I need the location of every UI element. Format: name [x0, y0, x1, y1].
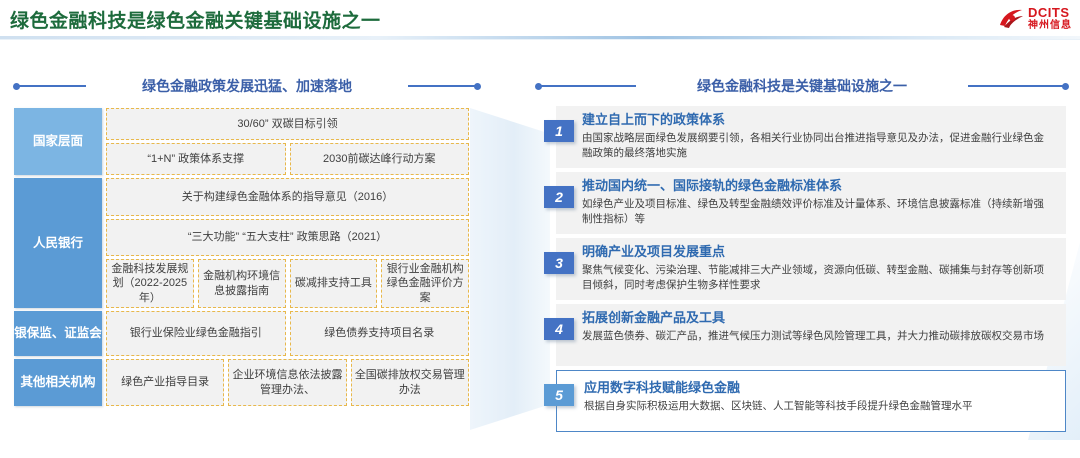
policy-cell[interactable]: 金融科技发展规划（2022-2025年）	[106, 259, 194, 308]
cell-group: “1+N” 政策体系支撑 2030前碳达峰行动方案	[106, 143, 469, 175]
policy-cell[interactable]: 绿色债券支持项目名录	[290, 311, 470, 356]
list-item-highlighted[interactable]: 5 应用数字科技赋能绿色金融 根据自身实际积极运用大数据、区块链、人工智能等科技…	[536, 368, 1066, 434]
key-points-list: 1 建立自上而下的政策体系 由国家战略层面绿色发展纲要引领，各相关行业协同出台推…	[536, 104, 1066, 434]
item-title: 明确产业及项目发展重点	[582, 244, 1052, 261]
policy-cell[interactable]: 银行业保险业绿色金融指引	[106, 311, 286, 356]
cell-group: “三大功能” “五大支柱” 政策思路（2021）	[106, 219, 469, 257]
item-title: 推动国内统一、国际接轨的绿色金融标准体系	[582, 178, 1052, 195]
policy-cell[interactable]: “1+N” 政策体系支撑	[106, 143, 286, 175]
item-description: 根据自身实际积极运用大数据、区块链、人工智能等科技手段提升绿色金融管理水平	[584, 399, 1052, 414]
logo-wordmark: DCITS 神州信息	[1028, 6, 1072, 31]
item-description: 聚焦气候变化、污染治理、节能减排三大产业领域，资源向低碳、转型金融、碳捕集与封存…	[582, 263, 1052, 293]
row-body: 银行业保险业绿色金融指引 绿色债券支持项目名录	[102, 311, 469, 356]
item-text: 拓展创新金融产品及工具 发展蓝色债券、碳汇产品，推进气候压力测试等绿色风险管理工…	[582, 310, 1052, 344]
item-title: 建立自上而下的政策体系	[582, 112, 1052, 129]
list-item[interactable]: 3 明确产业及项目发展重点 聚焦气候变化、污染治理、节能减排三大产业领域，资源向…	[536, 236, 1066, 302]
table-row: 国家层面 30/60” 双碳目标引领 “1+N” 政策体系支撑 2030前碳达峰…	[14, 108, 469, 175]
row-label-cbirc-csrc: 银保监、证监会	[14, 311, 102, 356]
row-body: 关于构建绿色金融体系的指导意见（2016） “三大功能” “五大支柱” 政策思路…	[102, 178, 469, 308]
item-number-badge: 5	[544, 384, 574, 406]
table-row: 其他相关机构 绿色产业指导目录 企业环境信息依法披露管理办法、 全国碳排放权交易…	[14, 359, 469, 406]
row-label-national: 国家层面	[14, 108, 102, 175]
policy-cell[interactable]: 企业环境信息依法披露管理办法、	[228, 359, 346, 406]
cell-group: 30/60” 双碳目标引领	[106, 108, 469, 140]
row-body: 绿色产业指导目录 企业环境信息依法披露管理办法、 全国碳排放权交易管理办法	[102, 359, 469, 406]
row-body: 30/60” 双碳目标引领 “1+N” 政策体系支撑 2030前碳达峰行动方案	[102, 108, 469, 175]
title-bar: 绿色金融科技是绿色金融关键基础设施之一 DCITS 神州信息	[0, 0, 1080, 38]
item-number-badge: 1	[544, 120, 574, 142]
row-label-other-agencies: 其他相关机构	[14, 359, 102, 406]
item-title: 拓展创新金融产品及工具	[582, 310, 1052, 327]
brand-logo: DCITS 神州信息	[998, 3, 1072, 33]
cell-group: 金融科技发展规划（2022-2025年） 金融机构环境信息披露指南 碳减排支持工…	[106, 259, 469, 308]
dcits-swirl-icon	[998, 7, 1024, 29]
table-row: 人民银行 关于构建绿色金融体系的指导意见（2016） “三大功能” “五大支柱”…	[14, 178, 469, 308]
item-text: 明确产业及项目发展重点 聚焦气候变化、污染治理、节能减排三大产业领域，资源向低碳…	[582, 244, 1052, 293]
item-text: 应用数字科技赋能绿色金融 根据自身实际积极运用大数据、区块链、人工智能等科技手段…	[584, 380, 1052, 414]
item-description: 由国家战略层面绿色发展纲要引领，各相关行业协同出台推进指导意见及办法，促进金融行…	[582, 131, 1052, 161]
cell-group: 绿色产业指导目录 企业环境信息依法披露管理办法、 全国碳排放权交易管理办法	[106, 359, 469, 406]
item-description: 发展蓝色债券、碳汇产品，推进气候压力测试等绿色风险管理工具，并大力推动碳排放碳权…	[582, 329, 1052, 344]
left-section-header: 绿色金融政策发展迅猛、加速落地	[14, 76, 480, 96]
policy-cell[interactable]: 金融机构环境信息披露指南	[198, 259, 286, 308]
policy-cell[interactable]: “三大功能” “五大支柱” 政策思路（2021）	[106, 219, 469, 257]
list-item[interactable]: 1 建立自上而下的政策体系 由国家战略层面绿色发展纲要引领，各相关行业协同出台推…	[536, 104, 1066, 170]
list-item[interactable]: 2 推动国内统一、国际接轨的绿色金融标准体系 如绿色产业及项目标准、绿色及转型金…	[536, 170, 1066, 236]
item-number-badge: 2	[544, 186, 574, 208]
item-text: 建立自上而下的政策体系 由国家战略层面绿色发展纲要引领，各相关行业协同出台推进指…	[582, 112, 1052, 161]
right-section-header: 绿色金融科技是关键基础设施之一	[536, 76, 1068, 96]
header-rule-left-2	[536, 85, 636, 87]
right-section-title: 绿色金融科技是关键基础设施之一	[683, 76, 921, 96]
policy-cell[interactable]: 银行业金融机构绿色金融评价方案	[381, 259, 469, 308]
header-rule-right-2	[968, 85, 1068, 87]
policy-cell[interactable]: 碳减排支持工具	[290, 259, 378, 308]
logo-text-en: DCITS	[1028, 6, 1072, 19]
item-text: 推动国内统一、国际接轨的绿色金融标准体系 如绿色产业及项目标准、绿色及转型金融绩…	[582, 178, 1052, 227]
item-number-badge: 3	[544, 252, 574, 274]
logo-text-cn: 神州信息	[1028, 21, 1072, 31]
page-title: 绿色金融科技是绿色金融关键基础设施之一	[10, 6, 381, 33]
table-row: 银保监、证监会 银行业保险业绿色金融指引 绿色债券支持项目名录	[14, 311, 469, 356]
cell-group: 银行业保险业绿色金融指引 绿色债券支持项目名录	[106, 311, 469, 356]
item-number-badge: 4	[544, 318, 574, 340]
policy-cell[interactable]: 关于构建绿色金融体系的指导意见（2016）	[106, 178, 469, 216]
item-title: 应用数字科技赋能绿色金融	[584, 380, 1052, 397]
header-rule-left	[14, 85, 86, 87]
policy-cell[interactable]: 全国碳排放权交易管理办法	[351, 359, 469, 406]
policy-cell[interactable]: 绿色产业指导目录	[106, 359, 224, 406]
header-rule-right	[408, 85, 480, 87]
policy-cell[interactable]: 30/60” 双碳目标引领	[106, 108, 469, 140]
slide-canvas: 绿色金融科技是绿色金融关键基础设施之一 DCITS 神州信息 绿色金融政策发展迅…	[0, 0, 1080, 458]
row-label-pboc: 人民银行	[14, 178, 102, 308]
list-item[interactable]: 4 拓展创新金融产品及工具 发展蓝色债券、碳汇产品，推进气候压力测试等绿色风险管…	[536, 302, 1066, 368]
policy-cell[interactable]: 2030前碳达峰行动方案	[290, 143, 470, 175]
cell-group: 关于构建绿色金融体系的指导意见（2016）	[106, 178, 469, 216]
left-section-title: 绿色金融政策发展迅猛、加速落地	[128, 76, 366, 96]
policy-table: 国家层面 30/60” 双碳目标引领 “1+N” 政策体系支撑 2030前碳达峰…	[14, 108, 469, 409]
title-divider	[0, 36, 1080, 40]
item-description: 如绿色产业及项目标准、绿色及转型金融绩效评价标准及计量体系、环境信息披露标准（持…	[582, 197, 1052, 227]
